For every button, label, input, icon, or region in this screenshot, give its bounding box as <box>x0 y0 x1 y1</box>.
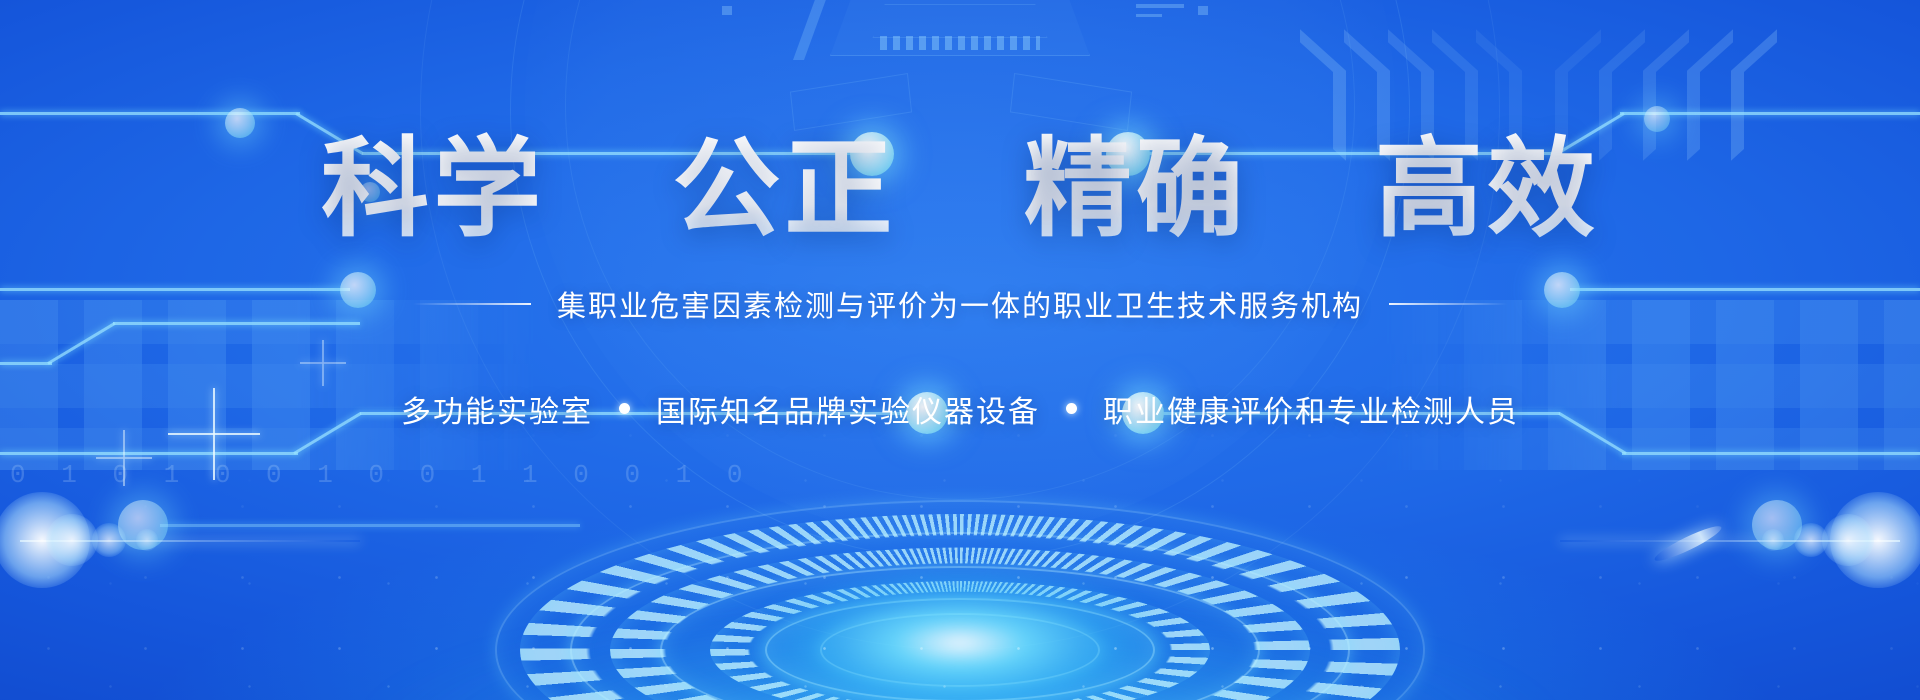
headline: 科学 公正 精确 高效 <box>321 132 1599 249</box>
subtitle: 集职业危害因素检测与评价为一体的职业卫生技术服务机构 <box>557 283 1363 325</box>
subtitle-divider-right <box>1389 303 1507 305</box>
feature-tag-2: 国际知名品牌实验仪器设备 <box>656 387 1040 431</box>
headline-word-4: 高效 <box>1375 127 1599 252</box>
tag-separator-dot-icon <box>619 403 630 414</box>
tag-separator-dot-icon <box>1066 403 1077 414</box>
feature-tag-1: 多功能实验室 <box>401 387 593 431</box>
banner-content: 科学 公正 精确 高效 集职业危害因素检测与评价为一体的职业卫生技术服务机构 多… <box>0 0 1920 700</box>
headline-word-3: 精确 <box>1024 127 1248 252</box>
headline-word-1: 科学 <box>321 127 545 252</box>
feature-tag-3: 职业健康评价和专业检测人员 <box>1103 387 1519 431</box>
feature-tags: 多功能实验室 国际知名品牌实验仪器设备 职业健康评价和专业检测人员 <box>401 387 1519 431</box>
subtitle-row: 集职业危害因素检测与评价为一体的职业卫生技术服务机构 <box>413 283 1507 325</box>
subtitle-divider-left <box>413 303 531 305</box>
tech-banner: 0 1 0 1 0 0 1 0 0 1 1 0 0 1 0 <box>0 0 1920 700</box>
headline-word-2: 公正 <box>672 127 896 252</box>
